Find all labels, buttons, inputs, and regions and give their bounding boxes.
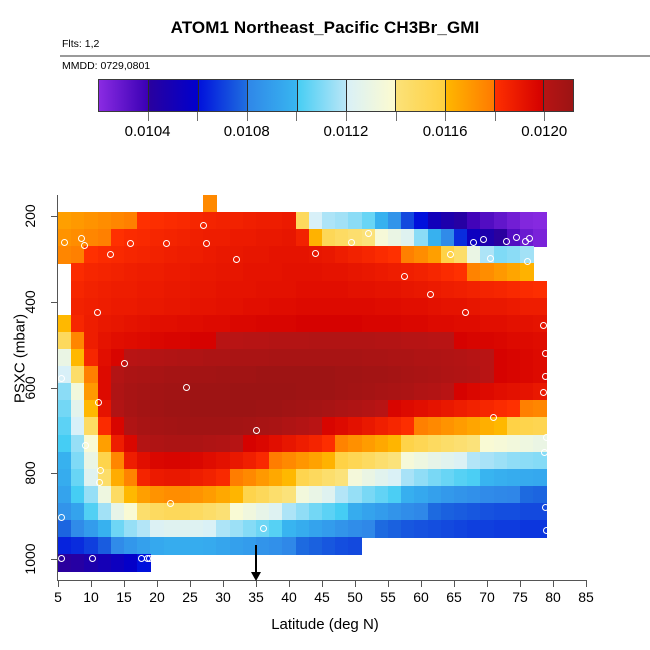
heatmap-cell — [520, 503, 534, 521]
heatmap-cell — [256, 281, 270, 299]
heatmap-cell — [137, 486, 151, 504]
heatmap-cell — [124, 315, 138, 333]
heatmap-cell — [388, 452, 402, 470]
heatmap-cell — [71, 537, 85, 555]
heatmap-cell — [137, 366, 151, 384]
heatmap-cell — [533, 281, 547, 299]
x-axis-tick-label: 10 — [83, 589, 99, 605]
heatmap-cell — [520, 281, 534, 299]
heatmap-cell — [441, 417, 455, 435]
x-axis-tick-label: 75 — [512, 589, 528, 605]
heatmap-cell — [71, 554, 85, 572]
heatmap-cell — [71, 417, 85, 435]
heatmap-cell — [230, 229, 244, 247]
heatmap-cell — [230, 383, 244, 401]
heatmap-cell — [454, 332, 468, 350]
heatmap-cell — [428, 263, 442, 281]
heatmap-cell — [322, 486, 336, 504]
heatmap-cell — [375, 417, 389, 435]
heatmap-cell — [98, 332, 112, 350]
heatmap-cell — [269, 417, 283, 435]
heatmap-cell — [203, 452, 217, 470]
heatmap-cell — [190, 400, 204, 418]
heatmap-cell — [414, 332, 428, 350]
heatmap-cell — [98, 554, 112, 572]
sample-point-marker — [543, 434, 550, 441]
heatmap-cell — [454, 520, 468, 538]
heatmap-cell — [388, 332, 402, 350]
heatmap-cells — [58, 195, 586, 580]
heatmap-cell — [216, 537, 230, 555]
heatmap-cell — [348, 263, 362, 281]
heatmap-cell — [84, 349, 98, 367]
heatmap-cell — [441, 349, 455, 367]
heatmap-cell — [256, 469, 270, 487]
heatmap-cell — [428, 520, 442, 538]
y-axis-tick-label: 200 — [22, 205, 38, 228]
heatmap-cell — [243, 452, 257, 470]
heatmap-cell — [203, 349, 217, 367]
heatmap-cell — [98, 229, 112, 247]
heatmap-cell — [190, 537, 204, 555]
x-axis-tick-label: 45 — [314, 589, 330, 605]
heatmap-cell — [269, 246, 283, 264]
heatmap-cell — [520, 212, 534, 230]
heatmap-cell — [520, 435, 534, 453]
heatmap-cell — [520, 469, 534, 487]
heatmap-cell — [296, 366, 310, 384]
heatmap-cell — [388, 298, 402, 316]
heatmap-cell — [494, 246, 508, 264]
heatmap-cell — [164, 469, 178, 487]
heatmap-cell — [243, 298, 257, 316]
heatmap-cell — [282, 229, 296, 247]
heatmap-cell — [480, 263, 494, 281]
heatmap-cell — [269, 332, 283, 350]
heatmap-cell — [507, 503, 521, 521]
heatmap-cell — [401, 520, 415, 538]
heatmap-cell — [230, 520, 244, 538]
heatmap-cell — [428, 246, 442, 264]
heatmap-cell — [177, 417, 191, 435]
heatmap-cell — [467, 383, 481, 401]
heatmap-cell — [335, 315, 349, 333]
heatmap-cell — [150, 298, 164, 316]
heatmap-cell — [243, 400, 257, 418]
heatmap-cell — [190, 452, 204, 470]
heatmap-cell — [216, 349, 230, 367]
heatmap-cell — [58, 246, 72, 264]
heatmap-cell — [533, 332, 547, 350]
heatmap-cell — [282, 452, 296, 470]
heatmap-cell — [111, 332, 125, 350]
heatmap-cell — [190, 520, 204, 538]
heatmap-cell — [243, 486, 257, 504]
heatmap-cell — [296, 349, 310, 367]
heatmap-cell — [269, 315, 283, 333]
heatmap-cell — [111, 263, 125, 281]
heatmap-cell — [58, 537, 72, 555]
heatmap-cell — [507, 435, 521, 453]
heatmap-cell — [98, 417, 112, 435]
heatmap-cell — [150, 281, 164, 299]
heatmap-cell — [309, 281, 323, 299]
heatmap-cell — [230, 435, 244, 453]
heatmap-cell — [507, 263, 521, 281]
heatmap-cell — [467, 366, 481, 384]
heatmap-cell — [401, 281, 415, 299]
heatmap-cell — [309, 417, 323, 435]
heatmap-cell — [111, 281, 125, 299]
heatmap-cell — [137, 520, 151, 538]
heatmap-cell — [322, 366, 336, 384]
heatmap-cell — [309, 349, 323, 367]
heatmap-cell — [348, 298, 362, 316]
heatmap-cell — [203, 332, 217, 350]
heatmap-cell — [98, 315, 112, 333]
heatmap-cell — [71, 263, 85, 281]
heatmap-cell — [296, 469, 310, 487]
heatmap-cell — [507, 349, 521, 367]
heatmap-cell — [348, 246, 362, 264]
heatmap-cell — [296, 315, 310, 333]
heatmap-cell — [348, 349, 362, 367]
heatmap-cell — [467, 452, 481, 470]
heatmap-cell — [309, 366, 323, 384]
heatmap-cell — [467, 246, 481, 264]
heatmap-cell — [533, 212, 547, 230]
heatmap-cell — [467, 315, 481, 333]
colorbar-tick-label: 0.0120 — [521, 123, 567, 140]
sample-point-marker — [503, 238, 510, 245]
y-axis-tick-label: 1000 — [22, 543, 38, 574]
colorbar-tick-label: 0.0116 — [423, 123, 468, 140]
heatmap-cell — [480, 212, 494, 230]
heatmap-cell — [322, 298, 336, 316]
heatmap-cell — [533, 229, 547, 247]
heatmap-cell — [296, 537, 310, 555]
heatmap-cell — [164, 349, 178, 367]
heatmap-cell — [177, 246, 191, 264]
heatmap-cell — [414, 246, 428, 264]
heatmap-cell — [164, 263, 178, 281]
heatmap-cell — [467, 263, 481, 281]
heatmap-cell — [348, 315, 362, 333]
heatmap-cell — [150, 315, 164, 333]
heatmap-cell — [388, 383, 402, 401]
heatmap-cell — [480, 349, 494, 367]
heatmap-cell — [335, 537, 349, 555]
heatmap-cell — [414, 366, 428, 384]
heatmap-cell — [230, 537, 244, 555]
heatmap-cell — [494, 469, 508, 487]
heatmap-cell — [150, 503, 164, 521]
heatmap-cell — [98, 366, 112, 384]
heatmap-cell — [520, 400, 534, 418]
heatmap-cell — [414, 263, 428, 281]
x-axis-tick-label: 20 — [149, 589, 165, 605]
heatmap-cell — [520, 452, 534, 470]
heatmap-cell — [282, 332, 296, 350]
heatmap-cell — [282, 486, 296, 504]
heatmap-cell — [335, 298, 349, 316]
heatmap-cell — [243, 332, 257, 350]
heatmap-cell — [296, 332, 310, 350]
heatmap-cell — [375, 212, 389, 230]
heatmap-cell — [203, 537, 217, 555]
heatmap-cell — [243, 503, 257, 521]
heatmap-cell — [375, 452, 389, 470]
heatmap-cell — [401, 229, 415, 247]
mmdd-label: MMDD: 0729,0801 — [62, 60, 150, 72]
heatmap-cell — [269, 400, 283, 418]
heatmap-cell — [137, 469, 151, 487]
heatmap-cell — [203, 400, 217, 418]
sample-point-marker — [81, 242, 88, 249]
heatmap-cell — [177, 332, 191, 350]
heatmap-cell — [124, 503, 138, 521]
heatmap-cell — [375, 246, 389, 264]
heatmap-cell — [203, 195, 217, 213]
heatmap-cell — [216, 315, 230, 333]
heatmap-cell — [256, 366, 270, 384]
heatmap-cell — [414, 452, 428, 470]
heatmap-cell — [362, 452, 376, 470]
heatmap-cell — [203, 520, 217, 538]
heatmap-cell — [428, 452, 442, 470]
heatmap-cell — [520, 349, 534, 367]
heatmap-cell — [309, 263, 323, 281]
heatmap-cell — [282, 315, 296, 333]
heatmap-cell — [520, 417, 534, 435]
heatmap-cell — [428, 212, 442, 230]
heatmap-cell — [216, 435, 230, 453]
heatmap-cell — [150, 263, 164, 281]
heatmap-cell — [454, 417, 468, 435]
heatmap-cell — [190, 349, 204, 367]
heatmap-cell — [467, 281, 481, 299]
heatmap-cell — [150, 452, 164, 470]
heatmap-cell — [309, 503, 323, 521]
heatmap-cell — [480, 281, 494, 299]
sample-point-marker — [542, 350, 549, 357]
heatmap-cell — [480, 486, 494, 504]
heatmap-cell — [216, 486, 230, 504]
x-axis-tick-label: 5 — [54, 589, 62, 605]
heatmap-cell — [401, 383, 415, 401]
heatmap-cell — [375, 298, 389, 316]
heatmap-cell — [58, 435, 72, 453]
heatmap-cell — [309, 486, 323, 504]
heatmap-cell — [177, 469, 191, 487]
heatmap-cell — [216, 246, 230, 264]
heatmap-cell — [190, 315, 204, 333]
heatmap-cell — [296, 229, 310, 247]
heatmap-cell — [362, 400, 376, 418]
heatmap-cell — [507, 315, 521, 333]
heatmap-cell — [71, 298, 85, 316]
heatmap-cell — [177, 349, 191, 367]
heatmap-cell — [348, 435, 362, 453]
heatmap-cell — [494, 520, 508, 538]
heatmap-cell — [454, 469, 468, 487]
heatmap-cell — [454, 452, 468, 470]
heatmap-cell — [362, 263, 376, 281]
heatmap-cell — [362, 486, 376, 504]
x-axis-tick-label: 15 — [116, 589, 132, 605]
heatmap-cell — [414, 400, 428, 418]
heatmap-cell — [375, 315, 389, 333]
heatmap-cell — [309, 537, 323, 555]
heatmap-cell — [58, 400, 72, 418]
heatmap-cell — [84, 212, 98, 230]
heatmap-cell — [58, 417, 72, 435]
heatmap-cell — [362, 246, 376, 264]
heatmap-cell — [454, 486, 468, 504]
heatmap-cell — [322, 263, 336, 281]
heatmap-cell — [335, 503, 349, 521]
heatmap-cell — [507, 452, 521, 470]
heatmap-cell — [362, 349, 376, 367]
heatmap-cell — [203, 469, 217, 487]
heatmap-cell — [362, 366, 376, 384]
heatmap-cell — [230, 263, 244, 281]
heatmap-cell — [388, 246, 402, 264]
heatmap-cell — [230, 486, 244, 504]
heatmap-cell — [520, 315, 534, 333]
page-title: ATOM1 Northeast_Pacific CH3Br_GMI — [0, 18, 650, 38]
heatmap-cell — [203, 315, 217, 333]
heatmap-cell — [243, 246, 257, 264]
heatmap-cell — [137, 537, 151, 555]
heatmap-cell — [335, 383, 349, 401]
heatmap-cell — [203, 503, 217, 521]
heatmap-cell — [230, 400, 244, 418]
heatmap-cell — [335, 263, 349, 281]
heatmap-cell — [441, 400, 455, 418]
heatmap-cell — [507, 417, 521, 435]
heatmap-cell — [216, 332, 230, 350]
heatmap-cell — [269, 537, 283, 555]
heatmap-cell — [388, 281, 402, 299]
heatmap-cell — [296, 520, 310, 538]
heatmap-cell — [428, 366, 442, 384]
heatmap-cell — [190, 332, 204, 350]
heatmap-cell — [256, 263, 270, 281]
heatmap-cell — [335, 520, 349, 538]
heatmap-cell — [428, 486, 442, 504]
heatmap-cell — [388, 263, 402, 281]
heatmap-cell — [441, 315, 455, 333]
x-axis-title: Latitude (deg N) — [0, 616, 650, 633]
heatmap-cell — [269, 503, 283, 521]
heatmap-cell — [388, 469, 402, 487]
heatmap-cell — [230, 332, 244, 350]
heatmap-cell — [256, 537, 270, 555]
heatmap-cell — [401, 212, 415, 230]
heatmap-cell — [137, 400, 151, 418]
heatmap-cell — [414, 212, 428, 230]
heatmap-cell — [401, 486, 415, 504]
heatmap-cell — [84, 383, 98, 401]
heatmap-cell — [243, 229, 257, 247]
heatmap-cell — [190, 469, 204, 487]
heatmap-cell — [124, 537, 138, 555]
heatmap-cell — [494, 435, 508, 453]
heatmap-cell — [348, 503, 362, 521]
heatmap-cell — [494, 452, 508, 470]
heatmap-cell — [58, 383, 72, 401]
heatmap-cell — [124, 212, 138, 230]
heatmap-cell — [269, 263, 283, 281]
sample-point-marker — [541, 449, 548, 456]
heatmap-cell — [335, 281, 349, 299]
heatmap-cell — [362, 281, 376, 299]
heatmap-cell — [322, 246, 336, 264]
heatmap-cell — [256, 383, 270, 401]
heatmap-cell — [282, 537, 296, 555]
heatmap-cell — [124, 366, 138, 384]
heatmap-cell — [507, 281, 521, 299]
heatmap-cell — [362, 435, 376, 453]
heatmap-cell — [124, 469, 138, 487]
heatmap-cell — [441, 435, 455, 453]
heatmap-cell — [137, 263, 151, 281]
heatmap-cell — [348, 400, 362, 418]
heatmap-cell — [164, 435, 178, 453]
heatmap-cell — [84, 503, 98, 521]
heatmap-cell — [309, 229, 323, 247]
heatmap-cell — [467, 400, 481, 418]
heatmap-cell — [269, 229, 283, 247]
chart-canvas: ATOM1 Northeast_Pacific CH3Br_GMI Flts: … — [0, 0, 650, 650]
heatmap-cell — [375, 281, 389, 299]
heatmap-cell — [111, 435, 125, 453]
heatmap-cell — [428, 417, 442, 435]
heatmap-cell — [520, 366, 534, 384]
heatmap-cell — [243, 281, 257, 299]
heatmap-cell — [98, 263, 112, 281]
heatmap-cell — [520, 298, 534, 316]
heatmap-cell — [137, 298, 151, 316]
heatmap-cell — [441, 486, 455, 504]
heatmap-cell — [84, 366, 98, 384]
heatmap-cell — [269, 349, 283, 367]
heatmap-cell — [480, 315, 494, 333]
heatmap-cell — [177, 520, 191, 538]
heatmap-cell — [256, 452, 270, 470]
heatmap-cell — [441, 452, 455, 470]
heatmap-cell — [401, 503, 415, 521]
heatmap-cell — [164, 246, 178, 264]
heatmap-cell — [296, 281, 310, 299]
heatmap-cell — [441, 298, 455, 316]
heatmap-cell — [480, 435, 494, 453]
heatmap-cell — [177, 263, 191, 281]
sample-point-marker — [167, 500, 174, 507]
heatmap-cell — [137, 383, 151, 401]
heatmap-cell — [480, 469, 494, 487]
heatmap-cell — [428, 435, 442, 453]
heatmap-cell — [282, 366, 296, 384]
heatmap-cell — [164, 281, 178, 299]
heatmap-cell — [98, 503, 112, 521]
heatmap-cell — [467, 435, 481, 453]
heatmap-cell — [243, 263, 257, 281]
heatmap-cell — [309, 469, 323, 487]
heatmap-cell — [348, 469, 362, 487]
heatmap-cell — [335, 332, 349, 350]
